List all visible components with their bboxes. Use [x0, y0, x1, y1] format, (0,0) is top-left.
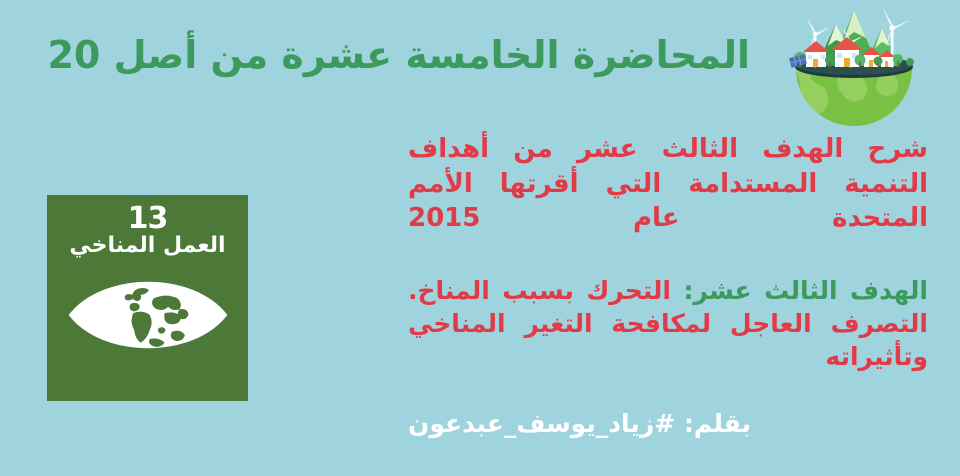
- poster-canvas: المحاضرة الخامسة عشرة من أصل 20: [0, 0, 960, 476]
- sdg-number: 13: [47, 203, 248, 235]
- page-title: المحاضرة الخامسة عشرة من أصل 20: [170, 34, 750, 78]
- intro-paragraph: شرح الهدف الثالث عشر من أهداف التنمية ال…: [408, 132, 928, 236]
- eye-globe-icon: [47, 267, 248, 363]
- sdg-label: العمل المناخي: [47, 234, 248, 258]
- goal-heading: الهدف الثالث عشر:: [684, 276, 928, 305]
- sdg-13-card: 13 العمل المناخي: [47, 195, 248, 401]
- eco-village-globe-logo: [786, 2, 922, 128]
- goal-statement: الهدف الثالث عشر: التحرك بسبب المناخ. ال…: [408, 274, 928, 374]
- author-credit: بقلم: #زياد_يوسف_عبدعون: [408, 409, 928, 438]
- content-column: شرح الهدف الثالث عشر من أهداف التنمية ال…: [408, 132, 928, 438]
